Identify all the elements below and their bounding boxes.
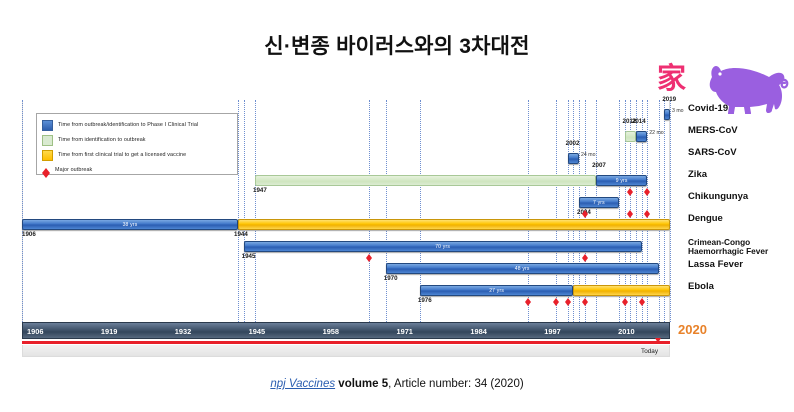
end-year-label: 2020	[678, 322, 707, 337]
timeline-row: 38 yrs19061944	[22, 214, 670, 236]
legend-label-green: Time from identification to outbreak	[58, 137, 146, 143]
infographic-slide: 신·변종 바이러스와의 3차대전 家 3 mo201922 mo20122014…	[0, 0, 794, 412]
outbreak-marker-icon	[627, 207, 633, 214]
bar-segment-blue: 48 yrs	[386, 263, 659, 274]
axis-tick-2010: 2010	[618, 327, 634, 336]
today-label: Today	[641, 348, 658, 355]
second-year-label: 2014	[632, 118, 646, 125]
start-year-label: 2019	[662, 96, 676, 103]
bar-segment-blue: 38 yrs	[22, 219, 238, 230]
disease-label-line2: Haemorrhagic Fever	[688, 247, 768, 256]
disease-label-crimean-congo: Crimean-CongoHaemorrhagic Fever	[688, 238, 768, 257]
disease-label-zika: Zika	[688, 170, 707, 181]
disease-label-chikungunya: Chikungunya	[688, 192, 748, 203]
bar-duration-label: 9 yrs	[597, 176, 646, 185]
outbreak-marker-icon	[582, 295, 588, 302]
bar-segment-blue	[568, 153, 579, 164]
timeline-row: 70 yrs1945	[22, 236, 670, 258]
timeline-row: 7 yrs2004	[22, 192, 670, 214]
axis-tick-1919: 1919	[101, 327, 117, 336]
outbreak-marker-icon	[627, 185, 633, 192]
disease-label-dengue: Dengue	[688, 214, 723, 225]
page-title: 신·변종 바이러스와의 3차대전	[0, 30, 794, 60]
bar-duration-label: 27 yrs	[421, 286, 572, 295]
citation-journal[interactable]: npj Vaccines	[270, 378, 335, 390]
bar-duration-label: 7 yrs	[580, 198, 618, 207]
legend-label-outbreak: Major outbreak	[55, 167, 92, 173]
bar-segment-blue	[664, 109, 670, 120]
legend-swatch-blue	[42, 120, 53, 131]
disease-label-mers-cov: MERS-CoV	[688, 126, 738, 137]
citation-rest: , Article number: 34 (2020)	[388, 378, 524, 390]
outbreak-marker-icon	[582, 251, 588, 258]
bar-duration-label: 48 yrs	[387, 264, 658, 273]
timeline-row: 48 yrs1970	[22, 258, 670, 280]
bar-duration-label: 3 mo	[672, 108, 684, 114]
outbreak-marker-icon	[366, 251, 372, 258]
axis-tick-1997: 1997	[544, 327, 560, 336]
bar-segment-gold	[238, 219, 670, 230]
outbreak-marker-icon	[553, 295, 559, 302]
start-year-label: 1976	[418, 297, 432, 304]
outbreak-marker-icon	[644, 207, 650, 214]
citation: npj Vaccines volume 5, Article number: 3…	[0, 378, 794, 390]
second-year-label: 2007	[592, 162, 606, 169]
hanzi-jia-icon: 家	[657, 64, 686, 93]
axis-tick-1945: 1945	[249, 327, 265, 336]
legend: Time from outbreak/identification to Pha…	[36, 113, 238, 175]
bar-segment-blue: 9 yrs	[596, 175, 647, 186]
legend-label-gold: Time from first clinical trial to get a …	[58, 152, 186, 158]
outbreak-marker-icon	[622, 295, 628, 302]
disease-label-covid-19: Covid-19	[688, 104, 728, 115]
bar-duration-label: 38 yrs	[23, 220, 237, 229]
disease-label-sars-cov: SARS-CoV	[688, 148, 737, 159]
today-marker-icon	[655, 338, 661, 346]
legend-item-gold: Time from first clinical trial to get a …	[42, 148, 232, 162]
legend-item-outbreak: Major outbreak	[42, 163, 232, 177]
bar-duration-label: 70 yrs	[245, 242, 641, 251]
axis-red-line	[22, 341, 670, 344]
gridline	[670, 100, 671, 322]
bar-segment-blue: 27 yrs	[420, 285, 573, 296]
disease-label-lassa-fever: Lassa Fever	[688, 260, 743, 271]
start-year-label: 2002	[566, 140, 580, 147]
legend-item-blue: Time from outbreak/identification to Pha…	[42, 118, 232, 132]
disease-label-ebola: Ebola	[688, 282, 714, 293]
bar-duration-label: 24 mo	[581, 152, 595, 158]
outbreak-marker-icon	[525, 295, 531, 302]
time-axis: 190619191932194519581971198419972010	[22, 322, 670, 339]
legend-swatch-green	[42, 135, 53, 146]
legend-label-blue: Time from outbreak/identification to Pha…	[58, 122, 198, 128]
outbreak-marker-icon	[639, 295, 645, 302]
axis-tick-1906: 1906	[27, 327, 43, 336]
axis-tick-1971: 1971	[396, 327, 412, 336]
bar-duration-label: 22 mo	[649, 130, 663, 136]
outbreak-marker-icon	[565, 295, 571, 302]
bar-segment-blue	[636, 131, 647, 142]
bar-segment-green	[625, 131, 636, 142]
outbreak-marker-icon	[644, 185, 650, 192]
legend-swatch-gold	[42, 150, 53, 161]
timeline-row: 27 yrs1976	[22, 280, 670, 302]
axis-tick-1958: 1958	[323, 327, 339, 336]
axis-tick-1984: 1984	[470, 327, 486, 336]
outbreak-marker-icon	[582, 207, 588, 214]
citation-volume: volume 5	[338, 378, 388, 390]
bar-segment-green	[255, 175, 596, 186]
axis-shelf	[22, 345, 670, 357]
diamond-icon	[42, 164, 50, 173]
legend-item-green: Time from identification to outbreak	[42, 133, 232, 147]
axis-tick-1932: 1932	[175, 327, 191, 336]
